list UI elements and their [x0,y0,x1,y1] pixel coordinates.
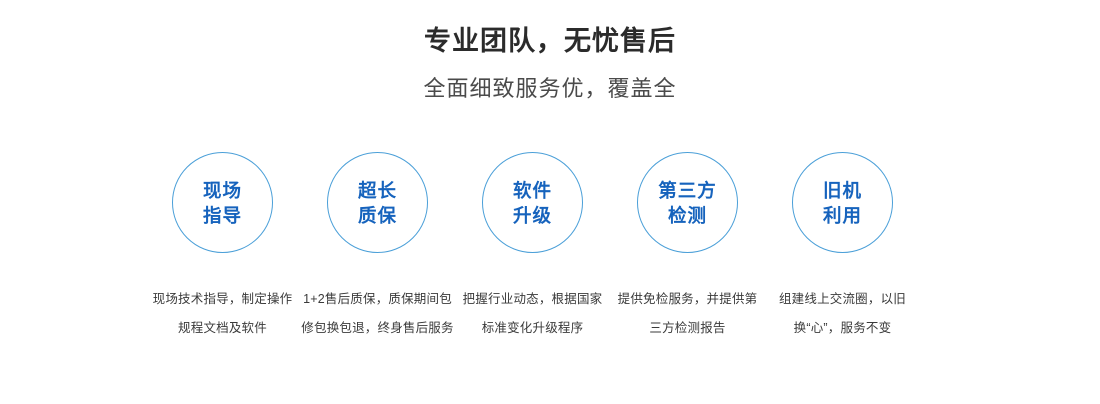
caption-line2: 规程文档及软件 [143,314,303,343]
circle-label-line1: 旧机 [823,178,862,203]
feature-caption: 1+2售后质保，质保期间包 修包换包退，终身售后服务 [298,285,458,343]
feature-circle[interactable]: 第三方 检测 [637,152,738,253]
circle-label-line1: 软件 [513,178,552,203]
feature-item-old-machine-reuse[interactable]: 旧机 利用 组建线上交流圈，以旧 换“心”，服务不变 [765,152,920,343]
caption-line1: 1+2售后质保，质保期间包 [298,285,458,314]
feature-item-third-party-inspection[interactable]: 第三方 检测 提供免检服务，并提供第 三方检测报告 [610,152,765,343]
feature-items-row: 现场 指导 现场技术指导，制定操作 规程文档及软件 超长 质保 1+2售后质保，… [145,152,920,343]
caption-line2: 三方检测报告 [608,314,768,343]
feature-item-extended-warranty[interactable]: 超长 质保 1+2售后质保，质保期间包 修包换包退，终身售后服务 [300,152,455,343]
feature-circle[interactable]: 旧机 利用 [792,152,893,253]
circle-label-line2: 利用 [823,203,862,228]
caption-line2: 修包换包退，终身售后服务 [298,314,458,343]
feature-item-software-upgrade[interactable]: 软件 升级 把握行业动态，根据国家 标准变化升级程序 [455,152,610,343]
feature-circle[interactable]: 软件 升级 [482,152,583,253]
page-title: 专业团队，无忧售后 [0,24,1100,58]
circle-label-line2: 检测 [668,203,707,228]
circle-label-line1: 第三方 [658,178,717,203]
service-features-section: 专业团队，无忧售后 全面细致服务优，覆盖全 现场 指导 现场技术指导，制定操作 … [0,0,1100,404]
caption-line1: 组建线上交流圈，以旧 [763,285,923,314]
heading-block: 专业团队，无忧售后 全面细致服务优，覆盖全 [0,24,1100,104]
caption-line1: 现场技术指导，制定操作 [143,285,303,314]
caption-line2: 标准变化升级程序 [453,314,613,343]
feature-circle[interactable]: 超长 质保 [327,152,428,253]
feature-caption: 把握行业动态，根据国家 标准变化升级程序 [453,285,613,343]
feature-caption: 提供免检服务，并提供第 三方检测报告 [608,285,768,343]
feature-circle[interactable]: 现场 指导 [172,152,273,253]
caption-line1: 把握行业动态，根据国家 [453,285,613,314]
page-subtitle: 全面细致服务优，覆盖全 [0,74,1100,104]
caption-line2: 换“心”，服务不变 [763,314,923,343]
circle-label-line2: 指导 [203,203,242,228]
feature-caption: 现场技术指导，制定操作 规程文档及软件 [143,285,303,343]
feature-item-onsite-guidance[interactable]: 现场 指导 现场技术指导，制定操作 规程文档及软件 [145,152,300,343]
circle-label-line1: 现场 [203,178,242,203]
circle-label-line2: 升级 [513,203,552,228]
circle-label-line1: 超长 [358,178,397,203]
feature-caption: 组建线上交流圈，以旧 换“心”，服务不变 [763,285,923,343]
circle-label-line2: 质保 [358,203,397,228]
caption-line1: 提供免检服务，并提供第 [608,285,768,314]
